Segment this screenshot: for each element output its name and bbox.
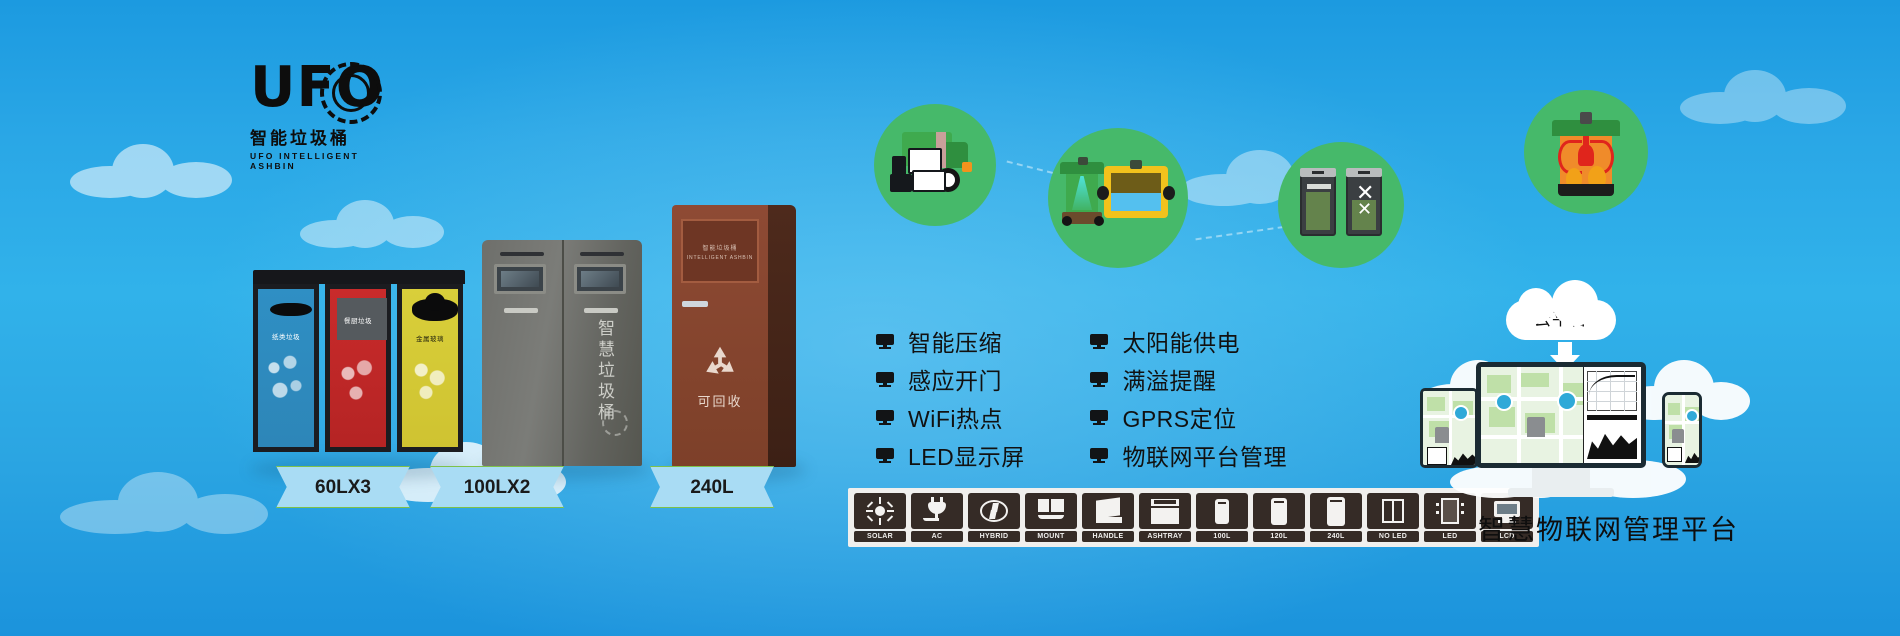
- highlight-circle-fire-alarm: [1524, 90, 1648, 214]
- feature-column-right: 太阳能供电 满溢提醒 GPRS定位 物联网平台管理: [1090, 322, 1287, 474]
- monitor-bullet-icon: [876, 334, 894, 349]
- spec-icon-label: ASHTRAY: [1139, 531, 1191, 542]
- bin-120l-icon: [1253, 493, 1305, 529]
- spec-icon-120l: 120L: [1253, 493, 1305, 542]
- brand-logo: UFO 智能垃圾桶 UFO INTELLIGENT ASHBIN: [250, 60, 380, 155]
- spec-icon-label: HYBRID: [968, 531, 1020, 542]
- bin-compartment-kitchen: 餐厨垃圾: [325, 284, 391, 452]
- platform-title: 智慧物联网管理平台: [1478, 508, 1739, 547]
- bin-brand-mark: [602, 410, 628, 436]
- feature-label: GPRS定位: [1122, 400, 1236, 434]
- monitor-stand: [1532, 468, 1590, 490]
- compartment-graphic: [410, 351, 450, 407]
- feature-item: 感应开门: [876, 360, 1076, 398]
- highlight-circle-fill-level: ✕ ✕: [1278, 142, 1404, 268]
- spec-icon-label: HANDLE: [1082, 531, 1134, 542]
- spec-icon-solar: SOLAR: [854, 493, 906, 542]
- spec-icon-led: LED: [1424, 493, 1476, 542]
- spec-icon-240l: 240L: [1310, 493, 1362, 542]
- feature-label: 感应开门: [908, 362, 1002, 396]
- spec-icon-label: SOLAR: [854, 531, 906, 542]
- compartment-graphic: [338, 351, 378, 407]
- bin-illustration: [1064, 162, 1100, 224]
- monitor-bullet-icon: [1090, 410, 1108, 425]
- spec-icon-no-led: NO LED: [1367, 493, 1419, 542]
- product-brown-bin: 智能垃圾桶 INTELLIGENT ASHBIN 可回收: [672, 205, 796, 467]
- iot-platform-illustration: 云平台: [1420, 300, 1730, 500]
- compartment-label: 金属玻璃: [402, 333, 458, 343]
- spec-icon-mount: MOUNT: [1025, 493, 1077, 542]
- monitor-bullet-icon: [1090, 334, 1108, 349]
- recycle-icon: [698, 343, 742, 383]
- feature-item: 满溢提醒: [1090, 360, 1287, 398]
- feature-label: 智能压缩: [908, 324, 1002, 358]
- product-grey-bin: 智慧垃圾桶: [482, 240, 642, 466]
- bin-slot-icon: [270, 303, 312, 316]
- capacity-ribbon-100lx2: 100LX2: [430, 466, 564, 508]
- feature-column-left: 智能压缩 感应开门 WiFi热点 LED显示屏: [876, 322, 1076, 474]
- bin-info-panel: 智能垃圾桶 INTELLIGENT ASHBIN: [681, 219, 759, 283]
- spec-icon-label: AC: [911, 531, 963, 542]
- cloud-decoration: [1680, 70, 1850, 124]
- feature-label: WiFi热点: [908, 400, 1003, 434]
- monitor-bullet-icon: [876, 410, 894, 425]
- spec-icon-hybrid: HYBRID: [968, 493, 1020, 542]
- bin-top-bar: [253, 270, 465, 284]
- feature-item: 太阳能供电: [1090, 322, 1287, 360]
- capacity-ribbon-240l: 240L: [650, 466, 774, 508]
- bin-compartment-paper: 纸类垃圾: [253, 284, 319, 452]
- feature-item: 智能压缩: [876, 322, 1076, 360]
- brand-name-cn: 智能垃圾桶: [250, 124, 380, 149]
- handle-icon: [1082, 493, 1134, 529]
- cloud-decoration: [300, 200, 450, 250]
- spec-icon-label: 100L: [1196, 531, 1248, 542]
- monitor-base: [1508, 488, 1614, 497]
- bin-illustration: [1300, 174, 1336, 236]
- monitor-bullet-icon: [1090, 448, 1108, 463]
- ufo-ring-icon: [320, 62, 382, 124]
- feature-label: LED显示屏: [908, 438, 1025, 472]
- bin-body-text: 智慧垃圾桶: [598, 318, 620, 423]
- mount-icon: [1025, 493, 1077, 529]
- cloud-platform-badge: 云平台: [1506, 300, 1616, 340]
- spec-icon-label: NO LED: [1367, 531, 1419, 542]
- dashboard-screen: [1481, 367, 1641, 463]
- bin-compartment-metal-glass: 金属玻璃: [397, 284, 463, 452]
- feature-item: LED显示屏: [876, 436, 1076, 474]
- bin-display-screen: [574, 264, 626, 294]
- spec-icon-ashtray: ASHTRAY: [1139, 493, 1191, 542]
- sun-icon: [854, 493, 906, 529]
- desktop-monitor: [1476, 362, 1646, 468]
- compartment-label: 纸类垃圾: [258, 331, 314, 341]
- feature-label: 满溢提醒: [1122, 362, 1216, 396]
- spec-icon-label: MOUNT: [1025, 531, 1077, 542]
- phone-device: [1662, 392, 1702, 468]
- product-triple-bin: 纸类垃圾 餐厨垃圾 金属玻璃: [253, 270, 465, 466]
- feature-item: 物联网平台管理: [1090, 436, 1287, 474]
- spec-icon-100l: 100L: [1196, 493, 1248, 542]
- spec-icon-ac: AC: [911, 493, 963, 542]
- spec-icon-label: 240L: [1310, 531, 1362, 542]
- no-led-icon: [1367, 493, 1419, 529]
- feature-item: WiFi热点: [876, 398, 1076, 436]
- highlight-circle-compaction: [1048, 128, 1188, 268]
- feature-list: 智能压缩 感应开门 WiFi热点 LED显示屏 太阳能供电 满溢提醒: [876, 322, 1287, 474]
- monitor-bullet-icon: [1090, 372, 1108, 387]
- bin-100l-icon: [1196, 493, 1248, 529]
- spec-icon-label: 120L: [1253, 531, 1305, 542]
- ashtray-icon: [1139, 493, 1191, 529]
- panel-text-cn: 智能垃圾桶: [683, 243, 757, 252]
- feature-label: 物联网平台管理: [1122, 438, 1287, 472]
- bin-display-screen: [494, 264, 546, 294]
- bin-240l-icon: [1310, 493, 1362, 529]
- banner-canvas: UFO 智能垃圾桶 UFO INTELLIGENT ASHBIN 纸类垃圾 餐厨…: [0, 0, 1900, 636]
- plug-icon: [911, 493, 963, 529]
- brand-name-en: UFO INTELLIGENT ASHBIN: [250, 151, 380, 171]
- monitor-bullet-icon: [876, 448, 894, 463]
- bin-slot-icon: [412, 299, 458, 321]
- spec-icon-handle: HANDLE: [1082, 493, 1134, 542]
- panel-text-en: INTELLIGENT ASHBIN: [683, 255, 757, 261]
- highlight-circle-truck: [874, 104, 996, 226]
- bin-illustration: ✕ ✕: [1346, 174, 1382, 236]
- bin-body-text: 可回收: [672, 391, 768, 410]
- compartment-label: 餐厨垃圾: [330, 315, 386, 325]
- compartment-graphic: [266, 351, 306, 407]
- feature-label: 太阳能供电: [1122, 324, 1240, 358]
- tablet-device: [1420, 388, 1478, 468]
- hybrid-power-icon: [968, 493, 1020, 529]
- feature-item: GPRS定位: [1090, 398, 1287, 436]
- cloud-decoration: [60, 470, 270, 534]
- spec-icon-label: LED: [1424, 531, 1476, 542]
- compaction-illustration: [1104, 166, 1168, 218]
- cloud-decoration: [70, 140, 240, 200]
- monitor-bullet-icon: [876, 372, 894, 387]
- fire-alarm-illustration: [1552, 112, 1620, 196]
- capacity-ribbon-60lx3: 60LX3: [276, 466, 410, 508]
